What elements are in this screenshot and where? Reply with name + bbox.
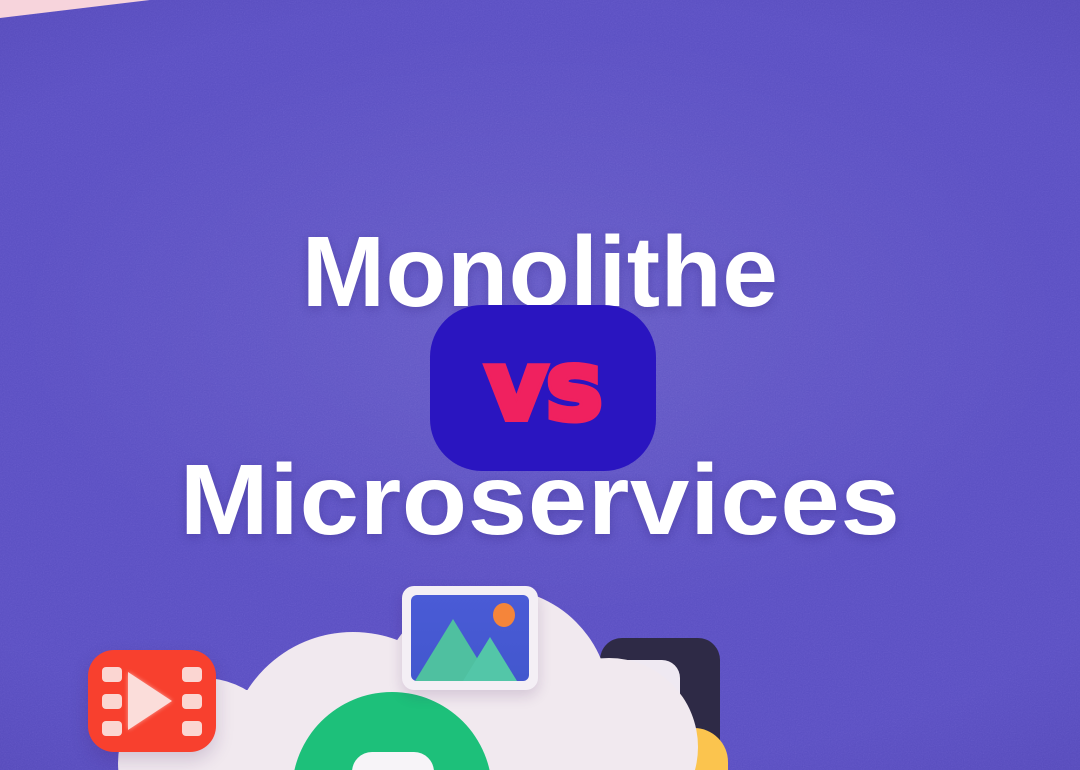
film-perforation xyxy=(182,721,202,736)
vs-badge: vs xyxy=(430,305,656,471)
image-photo-icon xyxy=(402,586,538,690)
film-perforation xyxy=(102,721,122,736)
vs-label: vs xyxy=(485,338,601,434)
film-perforation xyxy=(182,667,202,682)
film-perforation xyxy=(102,694,122,709)
film-perforation xyxy=(102,667,122,682)
sun-icon xyxy=(493,603,515,627)
mountain-shape xyxy=(463,637,517,681)
film-perforation xyxy=(182,694,202,709)
poster-canvas: Monolithe Microservices vs xyxy=(0,0,1080,770)
pink-corner-wedge xyxy=(0,0,150,22)
play-triangle-icon xyxy=(128,672,172,730)
photo-thumbnail xyxy=(411,595,529,681)
green-circle-inner-shape xyxy=(352,752,434,770)
video-film-icon xyxy=(88,650,216,752)
